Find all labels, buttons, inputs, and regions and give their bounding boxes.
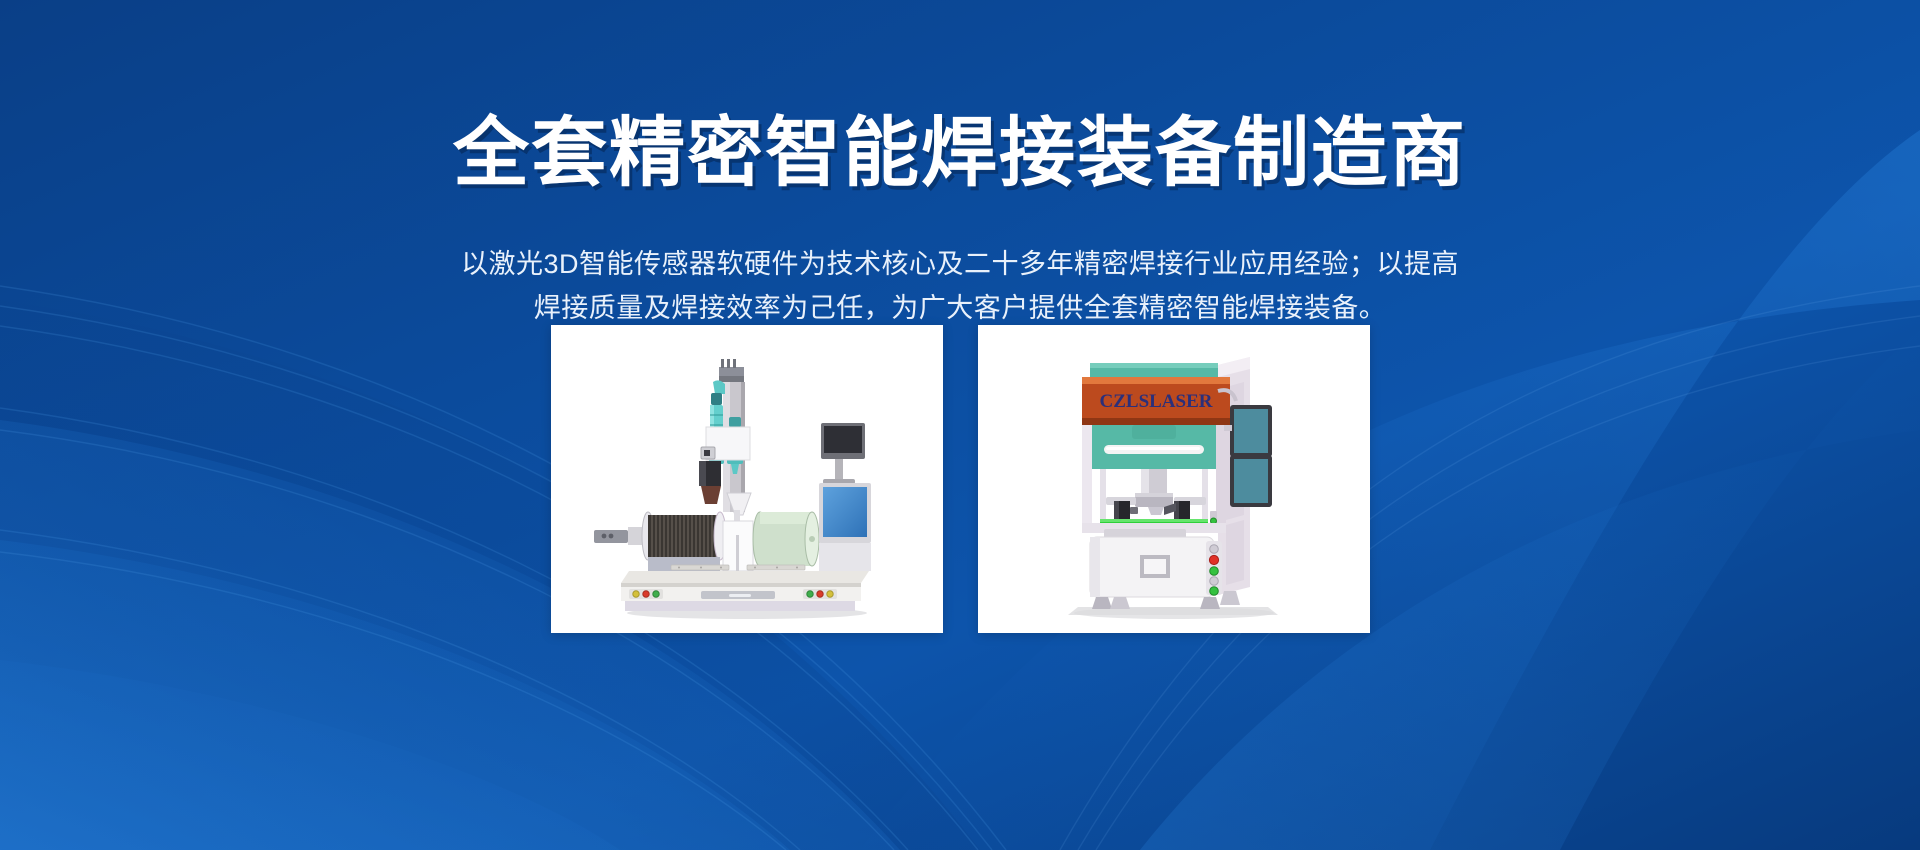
promo-banner: 全套精密智能焊接装备制造商 以激光3D智能传感器软硬件为技术核心及二十多年精密焊… [0, 0, 1920, 850]
product-image-laser-workstation: CZLSLASER [978, 325, 1370, 633]
page-title: 全套精密智能焊接装备制造商 [0, 113, 1920, 195]
brand-label: CZLSLASER [1099, 391, 1212, 412]
product-card-right[interactable]: CZLSLASER [978, 325, 1370, 633]
product-image-welding-machine [551, 325, 943, 633]
product-card-left[interactable] [551, 325, 943, 633]
subtitle-line-2: 焊接质量及焊接效率为己任，为广大客户提供全套精密智能焊接装备。 [400, 287, 1520, 331]
banner-subtitle: 以激光3D智能传感器软硬件为技术核心及二十多年精密焊接行业应用经验；以提高 焊接… [400, 243, 1520, 330]
product-gallery: CZLSLASER [0, 325, 1920, 633]
subtitle-line-1: 以激光3D智能传感器软硬件为技术核心及二十多年精密焊接行业应用经验；以提高 [400, 243, 1520, 287]
